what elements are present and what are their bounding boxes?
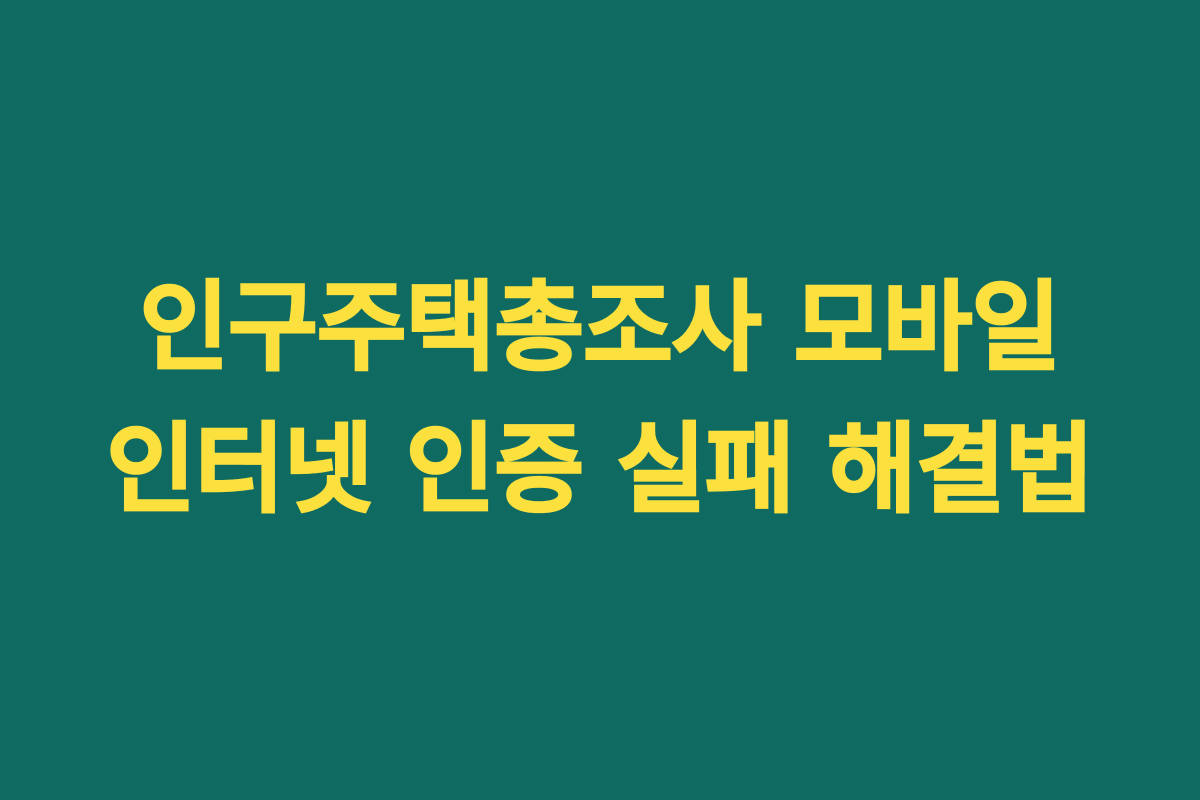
headline-line-1: 인구주택총조사 모바일 [0,257,1200,399]
thumbnail-card: 인구주택총조사 모바일 인터넷 인증 실패 해결법 [0,0,1200,800]
headline-block: 인구주택총조사 모바일 인터넷 인증 실패 해결법 [0,257,1200,541]
headline-line-2: 인터넷 인증 실패 해결법 [0,399,1200,541]
